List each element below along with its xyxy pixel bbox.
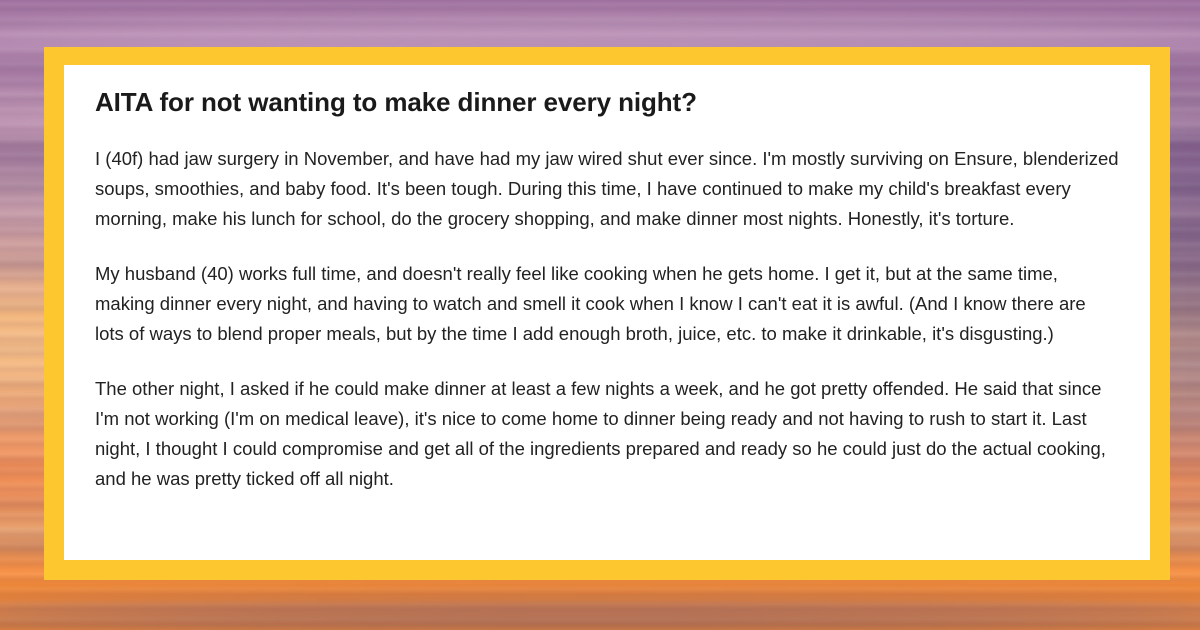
post-card-frame: AITA for not wanting to make dinner ever… [44, 47, 1170, 580]
post-card: AITA for not wanting to make dinner ever… [64, 65, 1150, 560]
post-paragraph: The other night, I asked if he could mak… [95, 374, 1119, 494]
post-paragraph: My husband (40) works full time, and doe… [95, 259, 1119, 349]
post-title: AITA for not wanting to make dinner ever… [95, 87, 1119, 118]
cloud-band [0, 614, 1200, 630]
post-screenshot-scene: AITA for not wanting to make dinner ever… [0, 0, 1200, 630]
post-paragraph: I (40f) had jaw surgery in November, and… [95, 144, 1119, 234]
